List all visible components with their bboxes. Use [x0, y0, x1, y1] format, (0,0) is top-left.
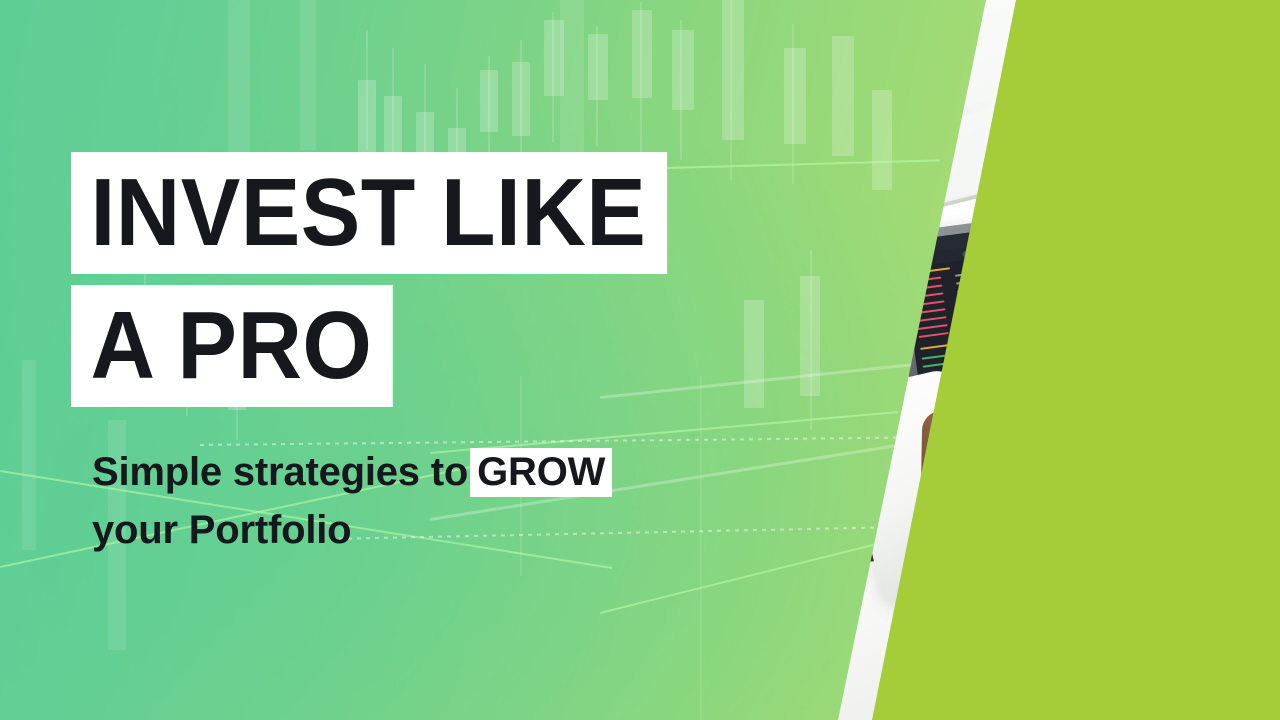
subtitle-prefix: Simple strategies to	[92, 450, 468, 494]
headline-line-1: INVEST LIKE	[71, 152, 667, 274]
subtitle-highlight-grow: GROW	[470, 448, 612, 497]
subtitle: Simple strategies toGROW your Portfolio	[92, 443, 612, 559]
headline: INVEST LIKE A PRO	[71, 152, 712, 407]
subtitle-line-1: Simple strategies toGROW	[92, 443, 612, 501]
marketing-banner: INVEST LIKE A PRO Simple strategies toGR…	[0, 0, 1280, 720]
subtitle-line-2: your Portfolio	[92, 501, 612, 559]
headline-line-2: A PRO	[71, 285, 393, 407]
